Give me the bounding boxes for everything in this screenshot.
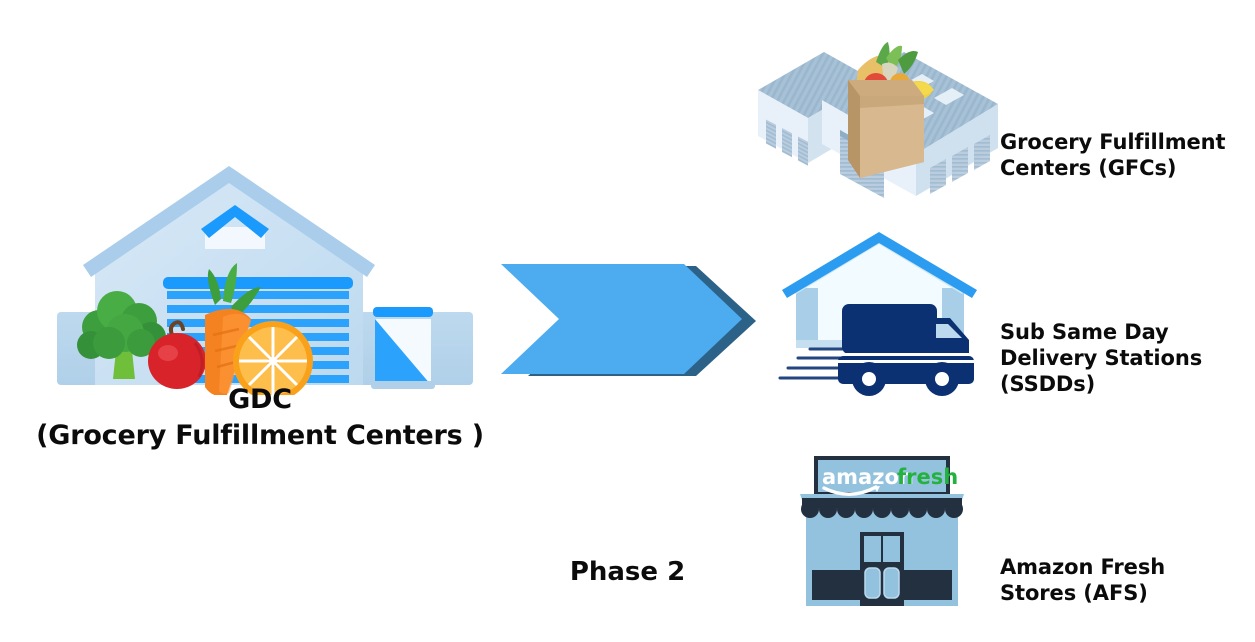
ssdd-label-line2: Delivery Stations [1000, 345, 1250, 371]
phase-arrow-icon [498, 262, 760, 380]
ssdd-label: Sub Same Day Delivery Stations (SSDDs) [1000, 319, 1250, 397]
afs-label-line1: Amazon Fresh [1000, 554, 1250, 580]
gfc-label: Grocery Fulfillment Centers (GFCs) [1000, 129, 1250, 181]
phase-label: Phase 2 [500, 556, 755, 588]
diagram-canvas: GDC (Grocery Fulfillment Centers ) Phase… [0, 0, 1255, 642]
gdc-label-line2: (Grocery Fulfillment Centers ) [10, 418, 510, 454]
gdc-label-line1: GDC [10, 382, 510, 418]
gfc-label-line1: Grocery Fulfillment [1000, 129, 1250, 155]
ssdd-label-line3: (SSDDs) [1000, 371, 1250, 397]
afs-storefront-icon: amazon fresh [792, 452, 972, 612]
gdc-label: GDC (Grocery Fulfillment Centers ) [10, 382, 510, 454]
phase-label-text: Phase 2 [570, 557, 685, 587]
gfc-warehouse-icon [752, 18, 1002, 198]
gdc-warehouse-icon [55, 165, 475, 395]
afs-label: Amazon Fresh Stores (AFS) [1000, 554, 1250, 606]
fresh-wordmark: fresh [897, 465, 958, 489]
gfc-label-line2: Centers (GFCs) [1000, 155, 1250, 181]
ssdd-delivery-station-icon [772, 232, 987, 397]
afs-label-line2: Stores (AFS) [1000, 580, 1250, 606]
ssdd-label-line1: Sub Same Day [1000, 319, 1250, 345]
